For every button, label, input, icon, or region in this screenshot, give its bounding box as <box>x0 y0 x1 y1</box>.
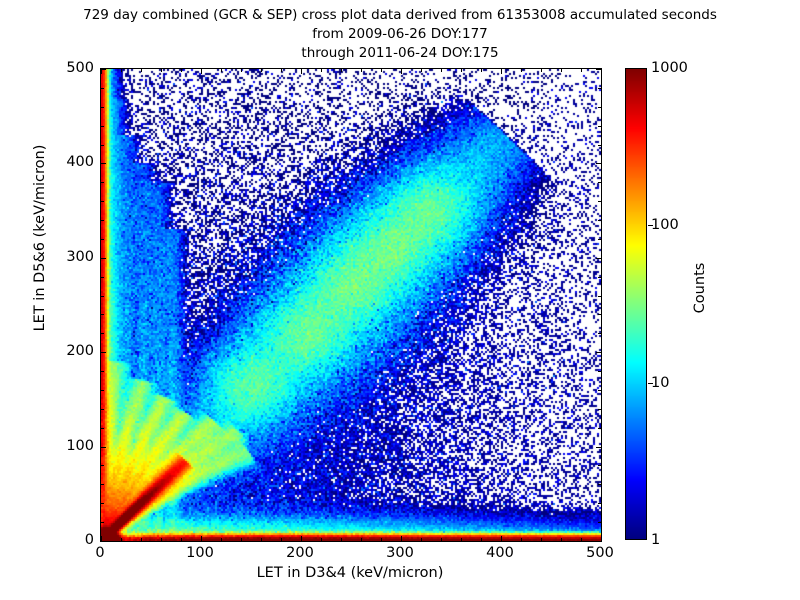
title-line-1: 729 day combined (GCR & SEP) cross plot … <box>0 6 800 25</box>
y-minor-tick <box>598 126 601 127</box>
x-minor-tick <box>561 69 562 72</box>
x-tick-label-400: 400 <box>486 545 514 561</box>
title-line-2: from 2009-06-26 DOY:177 <box>0 25 800 44</box>
y-minor-tick <box>101 277 104 278</box>
x-minor-tick <box>261 538 262 541</box>
x-major-tick-300 <box>401 69 402 74</box>
x-minor-tick <box>281 538 282 541</box>
x-minor-tick <box>481 538 482 541</box>
x-minor-tick <box>321 69 322 72</box>
colorbar <box>625 68 647 540</box>
y-major-tick-300 <box>596 258 601 259</box>
x-minor-tick <box>181 538 182 541</box>
colorbar-tick-label-10: 10 <box>651 375 669 391</box>
y-minor-tick <box>598 201 601 202</box>
x-tick-label-0: 0 <box>95 545 104 561</box>
colorbar-tick-label-1000: 1000 <box>651 60 688 76</box>
y-major-tick-200 <box>596 352 601 353</box>
x-minor-tick <box>521 69 522 72</box>
x-minor-tick <box>521 538 522 541</box>
y-minor-tick <box>101 465 104 466</box>
x-minor-tick <box>241 69 242 72</box>
y-major-tick-400 <box>596 163 601 164</box>
y-minor-tick <box>101 503 104 504</box>
y-minor-tick <box>101 484 104 485</box>
y-minor-tick <box>101 107 104 108</box>
y-minor-tick <box>101 314 104 315</box>
y-minor-tick <box>598 88 601 89</box>
y-major-tick-100 <box>596 447 601 448</box>
x-minor-tick <box>181 69 182 72</box>
x-major-tick-400 <box>501 69 502 74</box>
x-major-tick-300 <box>401 536 402 541</box>
y-minor-tick <box>598 277 601 278</box>
y-minor-tick <box>598 390 601 391</box>
x-tick-label-300: 300 <box>386 545 414 561</box>
y-minor-tick <box>598 145 601 146</box>
y-minor-tick <box>598 296 601 297</box>
x-minor-tick <box>541 69 542 72</box>
y-minor-tick <box>101 390 104 391</box>
y-minor-tick <box>598 314 601 315</box>
x-major-tick-200 <box>301 69 302 74</box>
x-minor-tick <box>361 538 362 541</box>
y-minor-tick <box>101 296 104 297</box>
y-major-tick-100 <box>101 447 106 448</box>
plot-title: 729 day combined (GCR & SEP) cross plot … <box>0 6 800 63</box>
y-minor-tick <box>598 371 601 372</box>
x-major-tick-400 <box>501 536 502 541</box>
y-minor-tick <box>598 333 601 334</box>
x-minor-tick <box>461 69 462 72</box>
colorbar-gradient <box>626 69 646 539</box>
colorbar-tick-label-100: 100 <box>651 217 679 233</box>
x-minor-tick <box>581 538 582 541</box>
y-minor-tick <box>101 428 104 429</box>
y-minor-tick <box>101 220 104 221</box>
y-tick-label-200: 200 <box>66 343 94 359</box>
y-minor-tick <box>598 465 601 466</box>
x-tick-label-200: 200 <box>286 545 314 561</box>
y-major-tick-500 <box>596 69 601 70</box>
x-minor-tick <box>421 538 422 541</box>
figure-canvas: 729 day combined (GCR & SEP) cross plot … <box>0 0 800 600</box>
x-minor-tick <box>461 538 462 541</box>
y-minor-tick <box>101 522 104 523</box>
y-major-tick-200 <box>101 352 106 353</box>
x-major-tick-200 <box>301 536 302 541</box>
y-tick-label-400: 400 <box>66 154 94 170</box>
y-minor-tick <box>101 409 104 410</box>
density-heatmap <box>101 69 601 541</box>
y-minor-tick <box>598 409 601 410</box>
x-minor-tick <box>161 538 162 541</box>
y-tick-label-100: 100 <box>66 438 94 454</box>
x-minor-tick <box>581 69 582 72</box>
y-tick-label-0: 0 <box>85 532 94 548</box>
y-minor-tick <box>101 371 104 372</box>
y-minor-tick <box>598 107 601 108</box>
x-minor-tick <box>361 69 362 72</box>
x-minor-tick <box>441 538 442 541</box>
colorbar-tick-label-1: 1 <box>651 532 660 548</box>
x-minor-tick <box>221 538 222 541</box>
x-major-tick-500 <box>601 536 602 541</box>
y-minor-tick <box>101 201 104 202</box>
x-minor-tick <box>121 538 122 541</box>
x-minor-tick <box>321 538 322 541</box>
y-minor-tick <box>598 522 601 523</box>
x-minor-tick <box>381 69 382 72</box>
y-minor-tick <box>598 220 601 221</box>
x-minor-tick <box>261 69 262 72</box>
x-minor-tick <box>541 538 542 541</box>
y-minor-tick <box>101 145 104 146</box>
y-major-tick-0 <box>596 541 601 542</box>
x-minor-tick <box>281 69 282 72</box>
density-plot-axes <box>100 68 602 542</box>
x-minor-tick <box>161 69 162 72</box>
y-minor-tick <box>101 333 104 334</box>
x-minor-tick <box>381 538 382 541</box>
x-minor-tick <box>121 69 122 72</box>
x-minor-tick <box>421 69 422 72</box>
y-major-tick-500 <box>101 69 106 70</box>
x-minor-tick <box>561 538 562 541</box>
x-minor-tick <box>141 69 142 72</box>
x-minor-tick <box>141 538 142 541</box>
y-minor-tick <box>101 88 104 89</box>
y-minor-tick <box>598 428 601 429</box>
x-axis-label: LET in D3&4 (keV/micron) <box>100 565 600 581</box>
y-tick-label-500: 500 <box>66 60 94 76</box>
y-major-tick-0 <box>101 541 106 542</box>
x-minor-tick <box>481 69 482 72</box>
y-minor-tick <box>101 126 104 127</box>
x-minor-tick <box>241 538 242 541</box>
y-minor-tick <box>101 239 104 240</box>
x-tick-label-500: 500 <box>586 545 614 561</box>
y-minor-tick <box>598 503 601 504</box>
colorbar-label: Counts <box>692 228 708 348</box>
y-minor-tick <box>101 182 104 183</box>
y-major-tick-400 <box>101 163 106 164</box>
y-axis-label: LET in D5&6 (keV/micron) <box>32 138 48 338</box>
x-minor-tick <box>341 538 342 541</box>
x-major-tick-500 <box>601 69 602 74</box>
x-minor-tick <box>221 69 222 72</box>
x-major-tick-100 <box>201 69 202 74</box>
y-tick-label-300: 300 <box>66 249 94 265</box>
x-major-tick-100 <box>201 536 202 541</box>
y-minor-tick <box>598 484 601 485</box>
x-minor-tick <box>441 69 442 72</box>
x-tick-label-100: 100 <box>186 545 214 561</box>
y-minor-tick <box>598 182 601 183</box>
y-major-tick-300 <box>101 258 106 259</box>
y-minor-tick <box>598 239 601 240</box>
x-minor-tick <box>341 69 342 72</box>
